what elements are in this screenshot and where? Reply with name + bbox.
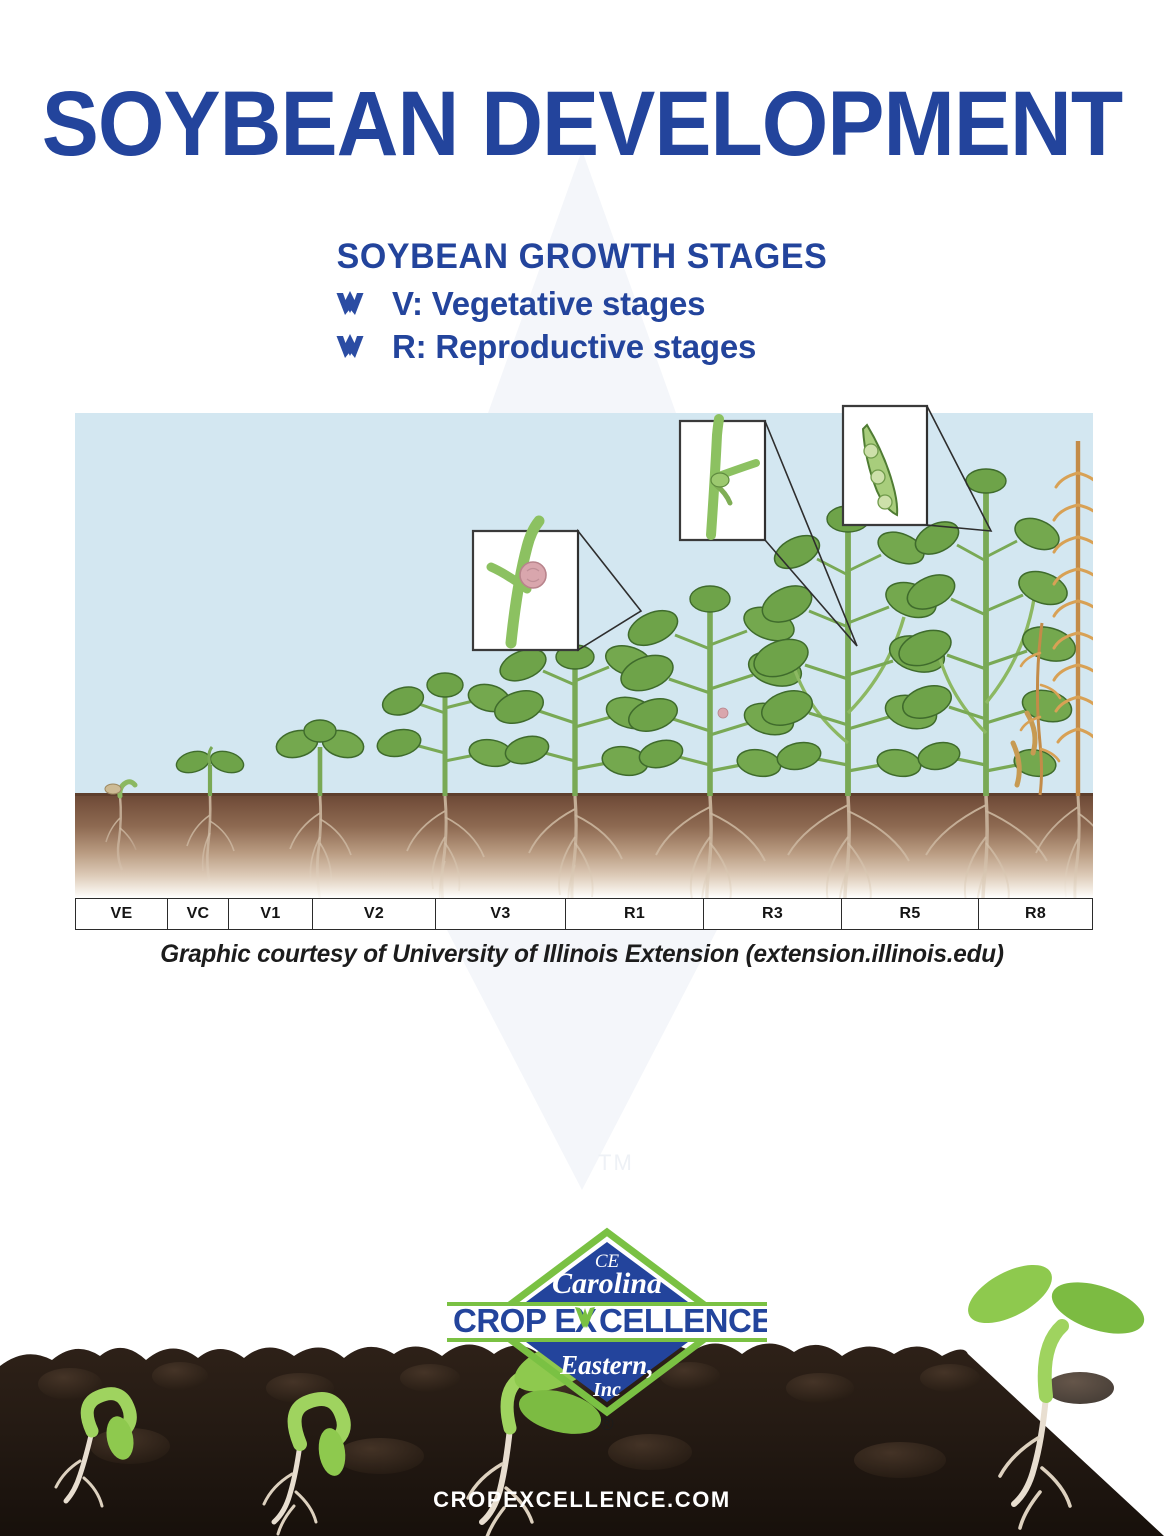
- page-title: SOYBEAN DEVELOPMENT: [41, 78, 1124, 170]
- legend-item-reproductive: R: Reproductive stages: [0, 328, 1164, 368]
- stage-cell-v2: V2: [313, 899, 436, 929]
- crop-excellence-logo[interactable]: CE Carolina Eastern, Inc CROP E X CELLEN…: [447, 1222, 767, 1437]
- graphic-attribution: Graphic courtesy of University of Illino…: [17, 940, 1146, 969]
- sprout-bullet-icon: [330, 328, 370, 368]
- stage-cell-vc: VC: [168, 899, 229, 929]
- stage-cell-v1: V1: [229, 899, 313, 929]
- stage-cell-v3: V3: [436, 899, 566, 929]
- stage-cell-r1: R1: [566, 899, 704, 929]
- callout-R5-pod: [843, 406, 991, 531]
- callout-boxes-group: [75, 403, 1093, 703]
- logo-top-script: Carolina: [552, 1267, 662, 1300]
- callout-R1-flower: [473, 521, 641, 650]
- website-url[interactable]: CROPEXCELLENCE.COM: [0, 1487, 1164, 1513]
- logo-wordmark-right: CELLENCE: [599, 1302, 767, 1339]
- logo-bottom-script-2: Inc: [592, 1379, 621, 1401]
- stage-cell-r8: R8: [979, 899, 1092, 929]
- plant-VC: [174, 747, 246, 884]
- legend-item-vegetative: V: Vegetative stages: [0, 285, 1164, 325]
- logo-bottom-script-1: Eastern,: [559, 1350, 654, 1380]
- legend-item-label: V: Vegetative stages: [392, 285, 705, 324]
- sprout-bullet-icon: [330, 285, 370, 325]
- flower-marker: [718, 708, 728, 718]
- logo-wordmark-left: CROP E: [453, 1302, 576, 1339]
- callout-R3-node: [680, 419, 857, 646]
- legend-heading: SOYBEAN GROWTH STAGES: [17, 238, 1146, 277]
- legend-list: V: Vegetative stages R: Reproductive sta…: [0, 285, 1164, 368]
- growth-stage-illustration: [75, 413, 1093, 898]
- plant-V1: [273, 720, 366, 898]
- logo-registered-mark: ®: [600, 1414, 613, 1434]
- growth-stages-legend: SOYBEAN GROWTH STAGES V: Vegetative stag…: [0, 238, 1164, 368]
- growth-stage-axis: VE VC V1 V2 V3 R1 R3 R5 R8: [75, 898, 1093, 930]
- plant-VE: [105, 782, 136, 870]
- stage-cell-r5: R5: [842, 899, 979, 929]
- stage-cell-r3: R3: [704, 899, 842, 929]
- svg-text:TM: TM: [598, 1150, 634, 1175]
- legend-item-label: R: Reproductive stages: [392, 328, 756, 367]
- stage-cell-ve: VE: [76, 899, 168, 929]
- plant-V2: [375, 673, 515, 898]
